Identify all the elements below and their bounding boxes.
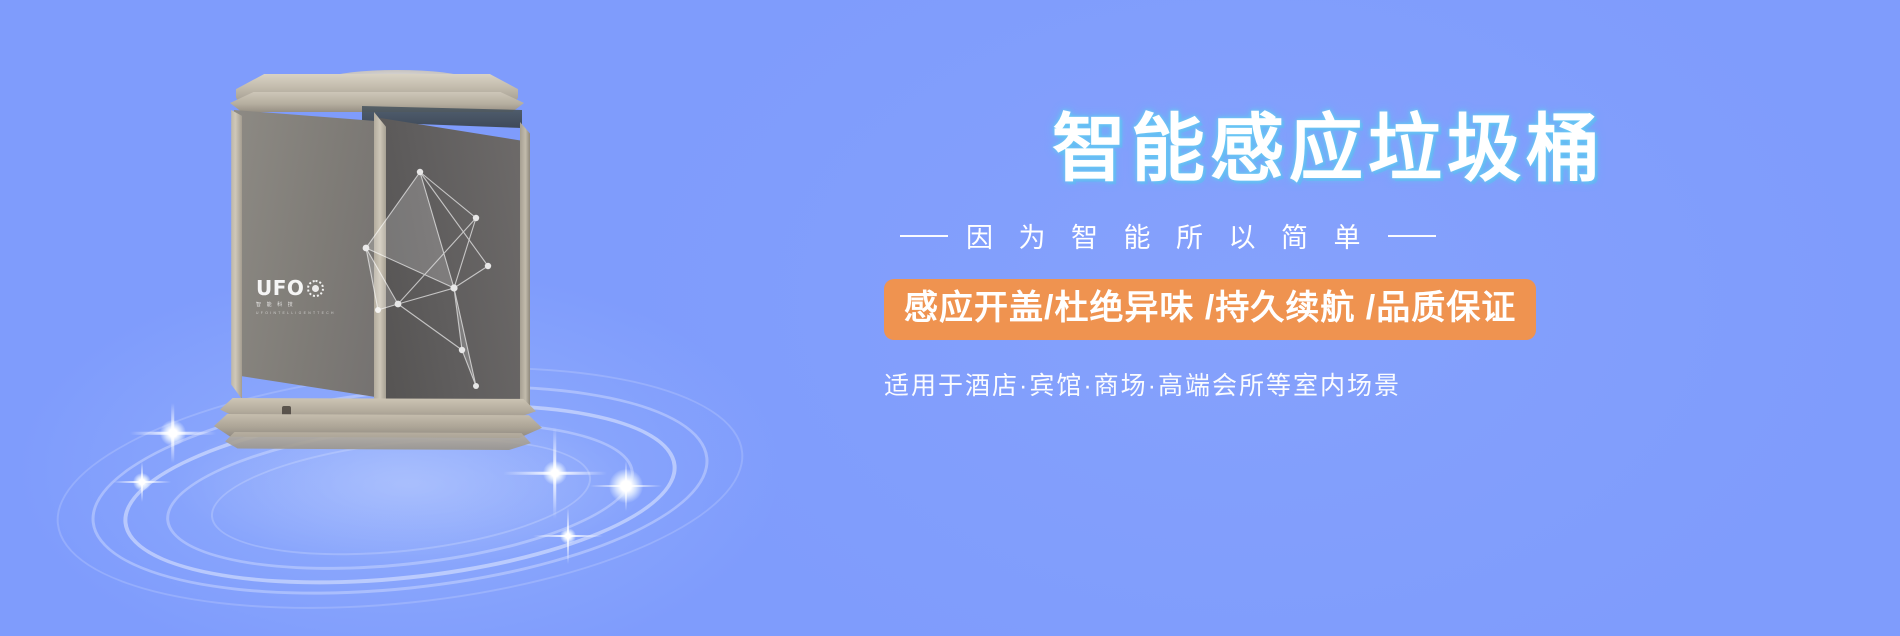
banner-copy: 智能感应垃圾桶 因 为 智 能 所 以 简 单 感应开盖/杜绝异味 /持久续航 … [860, 112, 1760, 402]
brand-wordmark: UFO [256, 278, 304, 298]
trash-can: UFO 智 能 科 技 U F O I N T E L L I G E N T … [212, 40, 542, 460]
headline: 智能感应垃圾桶 [860, 112, 1760, 186]
brand-ring-icon [307, 280, 324, 297]
polygonal-network-graphic [358, 118, 508, 408]
bin-edge-left [230, 110, 242, 402]
product-brand-logo: UFO 智 能 科 技 U F O I N T E L L I G E N T … [256, 278, 360, 315]
rule-left [900, 235, 948, 237]
brand-tagline-small: U F O I N T E L L I G E N T T E C H [256, 311, 360, 315]
brand-name-cn: 智 能 科 技 [256, 301, 360, 308]
bin-edge-right [520, 122, 530, 410]
subline-text: 因 为 智 能 所 以 简 单 [966, 216, 1370, 255]
rule-right [1388, 235, 1436, 237]
product-visual: UFO 智 能 科 技 U F O I N T E L L I G E N T … [60, 20, 760, 620]
bin-base-bottom [222, 432, 534, 450]
feature-pill: 感应开盖/杜绝异味 /持久续航 /品质保证 [884, 279, 1536, 340]
subline-row: 因 为 智 能 所 以 简 单 [860, 216, 1760, 255]
tagline: 适用于酒店·宾馆·商场·高端会所等室内场景 [860, 366, 1760, 402]
promo-banner: UFO 智 能 科 技 U F O I N T E L L I G E N T … [0, 0, 1900, 636]
feature-pill-text: 感应开盖/杜绝异味 /持久续航 /品质保证 [904, 289, 1516, 327]
